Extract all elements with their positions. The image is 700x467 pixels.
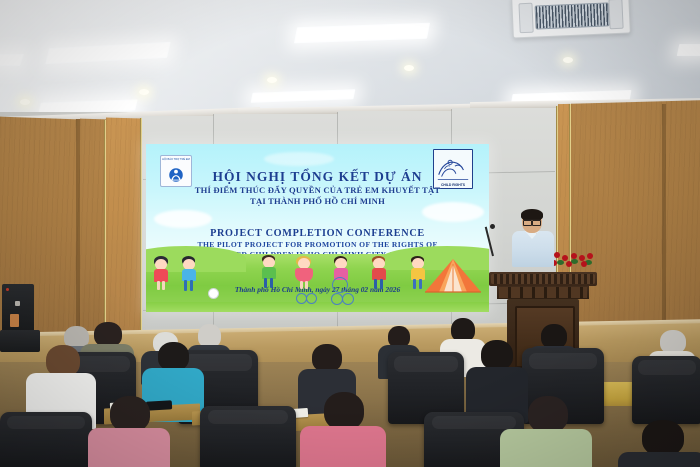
podium-carving — [491, 274, 595, 284]
leg — [190, 280, 193, 291]
body — [295, 268, 313, 282]
tent-icon — [423, 258, 483, 294]
cloud — [154, 210, 212, 228]
leg — [184, 280, 187, 291]
logo-left-text: HỘI BẢO TRỢ TRẺ EM — [161, 158, 191, 161]
banner-subline-vietnamese-2: TẠI THÀNH PHỐ HỒ CHÍ MINH — [146, 197, 489, 206]
banner-headline-english: PROJECT COMPLETION CONFERENCE — [146, 228, 489, 239]
rose — [587, 253, 593, 259]
ceiling-downlight — [563, 57, 573, 63]
audience-person — [88, 396, 170, 467]
eyeglasses-icon — [523, 219, 541, 224]
leg — [270, 278, 273, 288]
projection-screen: HỘI BẢO TRỢ TRẺ EM CHILD RIGHTS HỘI — [146, 144, 489, 312]
head — [158, 342, 189, 371]
body — [154, 269, 168, 282]
ceiling-downlight — [404, 65, 414, 71]
rose — [571, 253, 577, 259]
equipment-knob — [15, 301, 20, 306]
leg — [413, 279, 416, 289]
cartoon-child-wheelchair — [330, 256, 356, 292]
cartoon-child — [180, 256, 198, 292]
leg — [300, 281, 303, 289]
ceiling-downlight — [267, 77, 277, 83]
leaf — [571, 259, 578, 264]
head — [642, 420, 684, 456]
speaker-person — [509, 210, 557, 266]
ceiling-air-conditioner — [511, 0, 631, 39]
audience-person — [618, 420, 700, 467]
audience-chair — [200, 406, 296, 467]
microphone — [492, 226, 514, 256]
ceiling-panel-light — [677, 44, 700, 56]
ac-vane — [608, 0, 623, 29]
rose — [562, 255, 568, 261]
av-equipment-box — [2, 284, 34, 332]
conference-hall-photo: HỘI BẢO TRỢ TRẺ EM CHILD RIGHTS HỘI — [0, 0, 700, 467]
bicycle-wheel — [306, 293, 317, 304]
cloud — [264, 152, 334, 166]
banner-subline-vietnamese-1: THÍ ĐIỂM THÚC ĐẨY QUYỀN CỦA TRẺ EM KHUYẾ… — [146, 186, 489, 195]
ceiling-panel-light — [0, 54, 24, 66]
banner-grass-band — [146, 302, 489, 312]
audience-person — [300, 392, 386, 467]
ceiling-downlight — [139, 89, 149, 95]
equipment-label — [10, 314, 19, 327]
head — [324, 392, 364, 430]
torso — [500, 429, 592, 467]
bicycle-wheel — [342, 293, 354, 305]
rose — [566, 261, 572, 267]
wood-wall-panel — [662, 104, 666, 340]
head — [312, 344, 342, 372]
head — [481, 340, 513, 370]
wood-wall-panel — [106, 118, 142, 339]
camping-tent — [423, 258, 483, 294]
head — [110, 396, 150, 432]
wood-wall-panel — [80, 119, 106, 340]
leg — [374, 279, 377, 289]
podium-block-detail — [499, 287, 587, 298]
head — [528, 396, 568, 433]
audience-chair — [0, 412, 92, 467]
audience-person — [500, 396, 592, 467]
leg — [264, 278, 267, 288]
cartoon-child — [152, 256, 170, 290]
cartoon-child — [369, 256, 391, 291]
torso — [618, 452, 700, 467]
leg — [419, 279, 422, 289]
leg — [162, 281, 165, 290]
soccer-ball — [208, 288, 219, 299]
cartoon-child — [259, 255, 279, 289]
ac-vane — [518, 3, 533, 34]
status-led — [6, 288, 9, 291]
banner-headline-vietnamese: HỘI NGHỊ TỔNG KẾT DỰ ÁN — [146, 170, 489, 185]
torso — [300, 426, 386, 467]
microphone-head — [490, 224, 495, 229]
leg — [305, 281, 308, 289]
ac-grill — [535, 2, 610, 29]
wheelchair-wheel — [332, 277, 348, 293]
torso — [88, 428, 170, 467]
audience-chair — [632, 356, 700, 424]
rose — [581, 261, 587, 267]
leg — [380, 279, 383, 289]
ceiling-downlight — [20, 99, 30, 105]
cartoon-child — [294, 256, 314, 290]
leg — [157, 281, 160, 290]
